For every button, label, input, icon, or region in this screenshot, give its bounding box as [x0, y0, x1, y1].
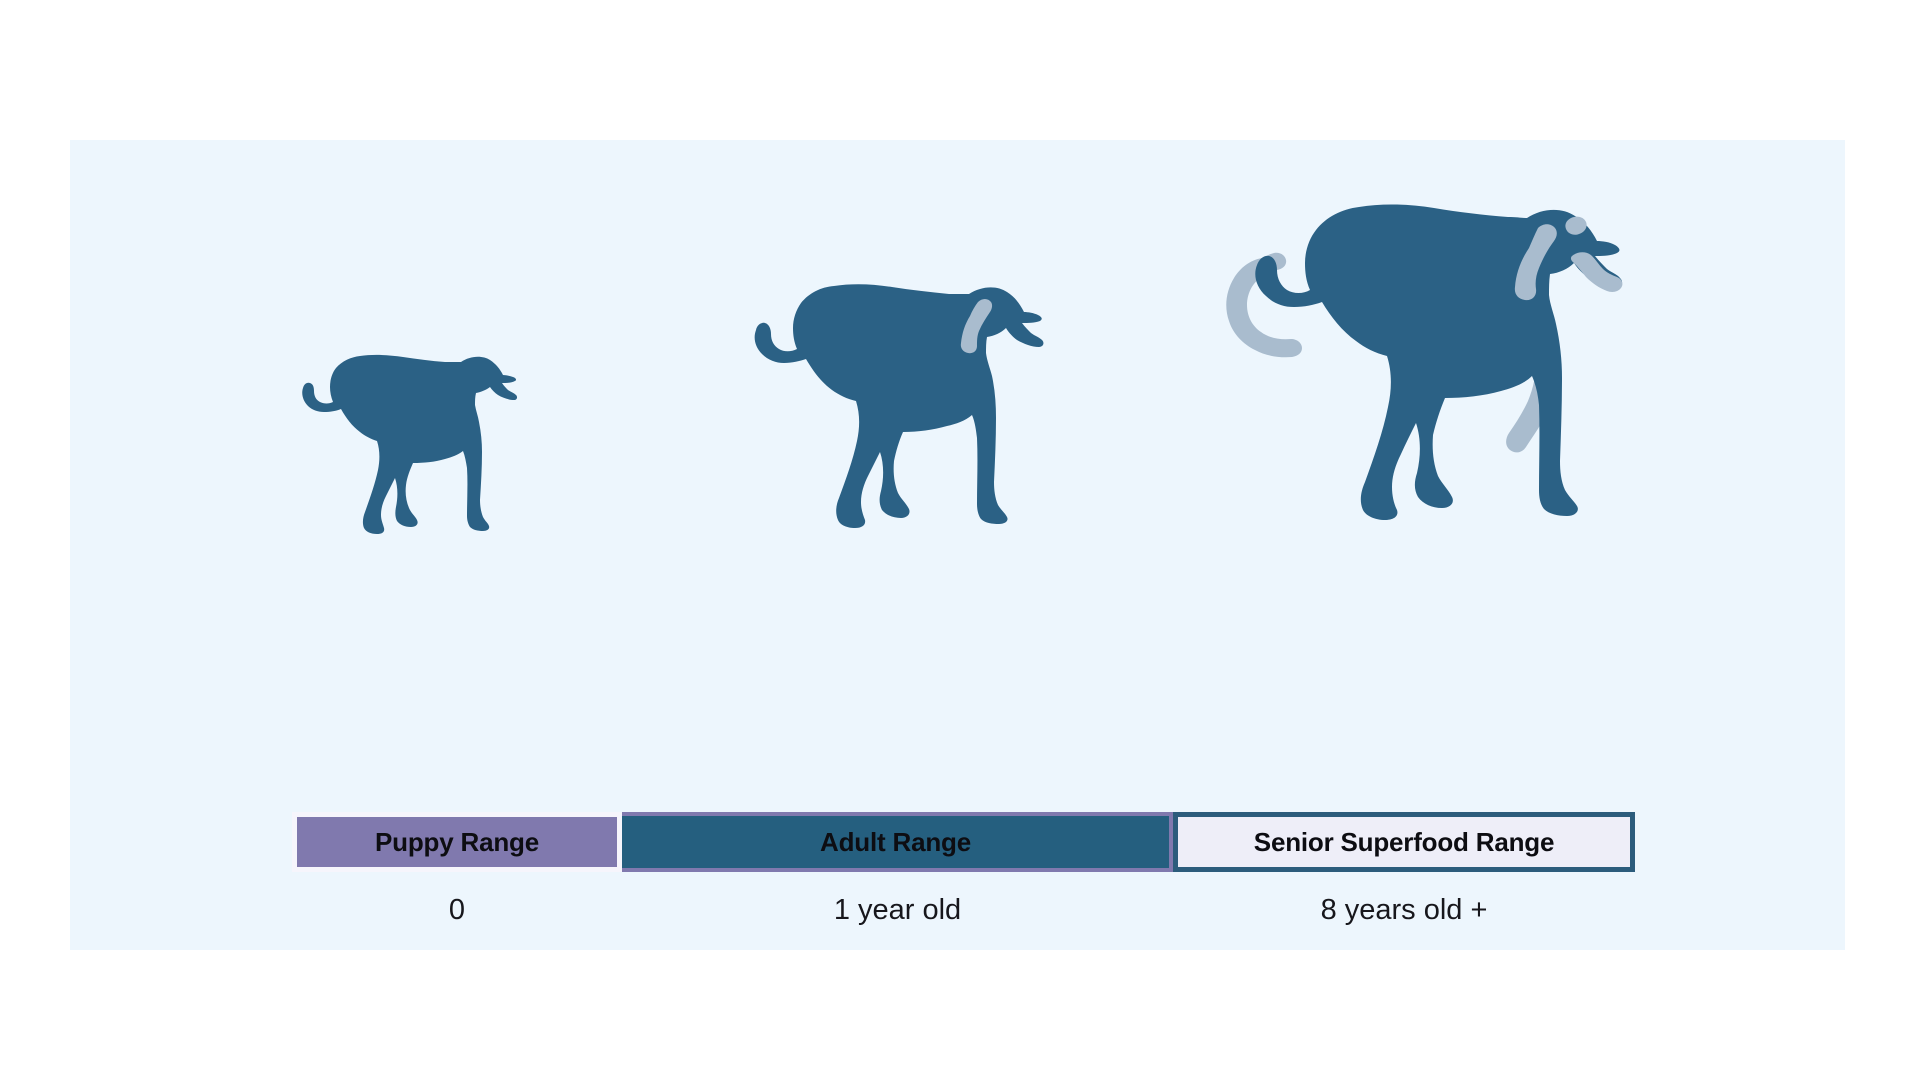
age-label-adult: 1 year old: [622, 888, 1173, 932]
puppy-dog-silhouette: [270, 350, 520, 550]
dog-body-shape: [1255, 204, 1622, 520]
dog-body-shape: [755, 284, 1044, 528]
age-label-puppy: 0: [292, 888, 622, 932]
range-segment-adult[interactable]: Adult Range: [622, 812, 1173, 872]
infographic-stage: Puppy Range Adult Range Senior Superfood…: [0, 0, 1920, 1080]
range-segment-puppy[interactable]: Puppy Range: [292, 812, 622, 872]
dog-body-shape: [302, 355, 517, 534]
background-panel: Puppy Range Adult Range Senior Superfood…: [70, 140, 1845, 950]
age-label-row: 0 1 year old 8 years old +: [292, 888, 1635, 932]
life-stage-range-bar: Puppy Range Adult Range Senior Superfood…: [292, 812, 1635, 872]
adult-dog-silhouette: [705, 278, 1050, 550]
age-label-senior: 8 years old +: [1173, 888, 1635, 932]
range-segment-senior[interactable]: Senior Superfood Range: [1173, 812, 1635, 872]
senior-dog-silhouette: [1190, 198, 1630, 550]
